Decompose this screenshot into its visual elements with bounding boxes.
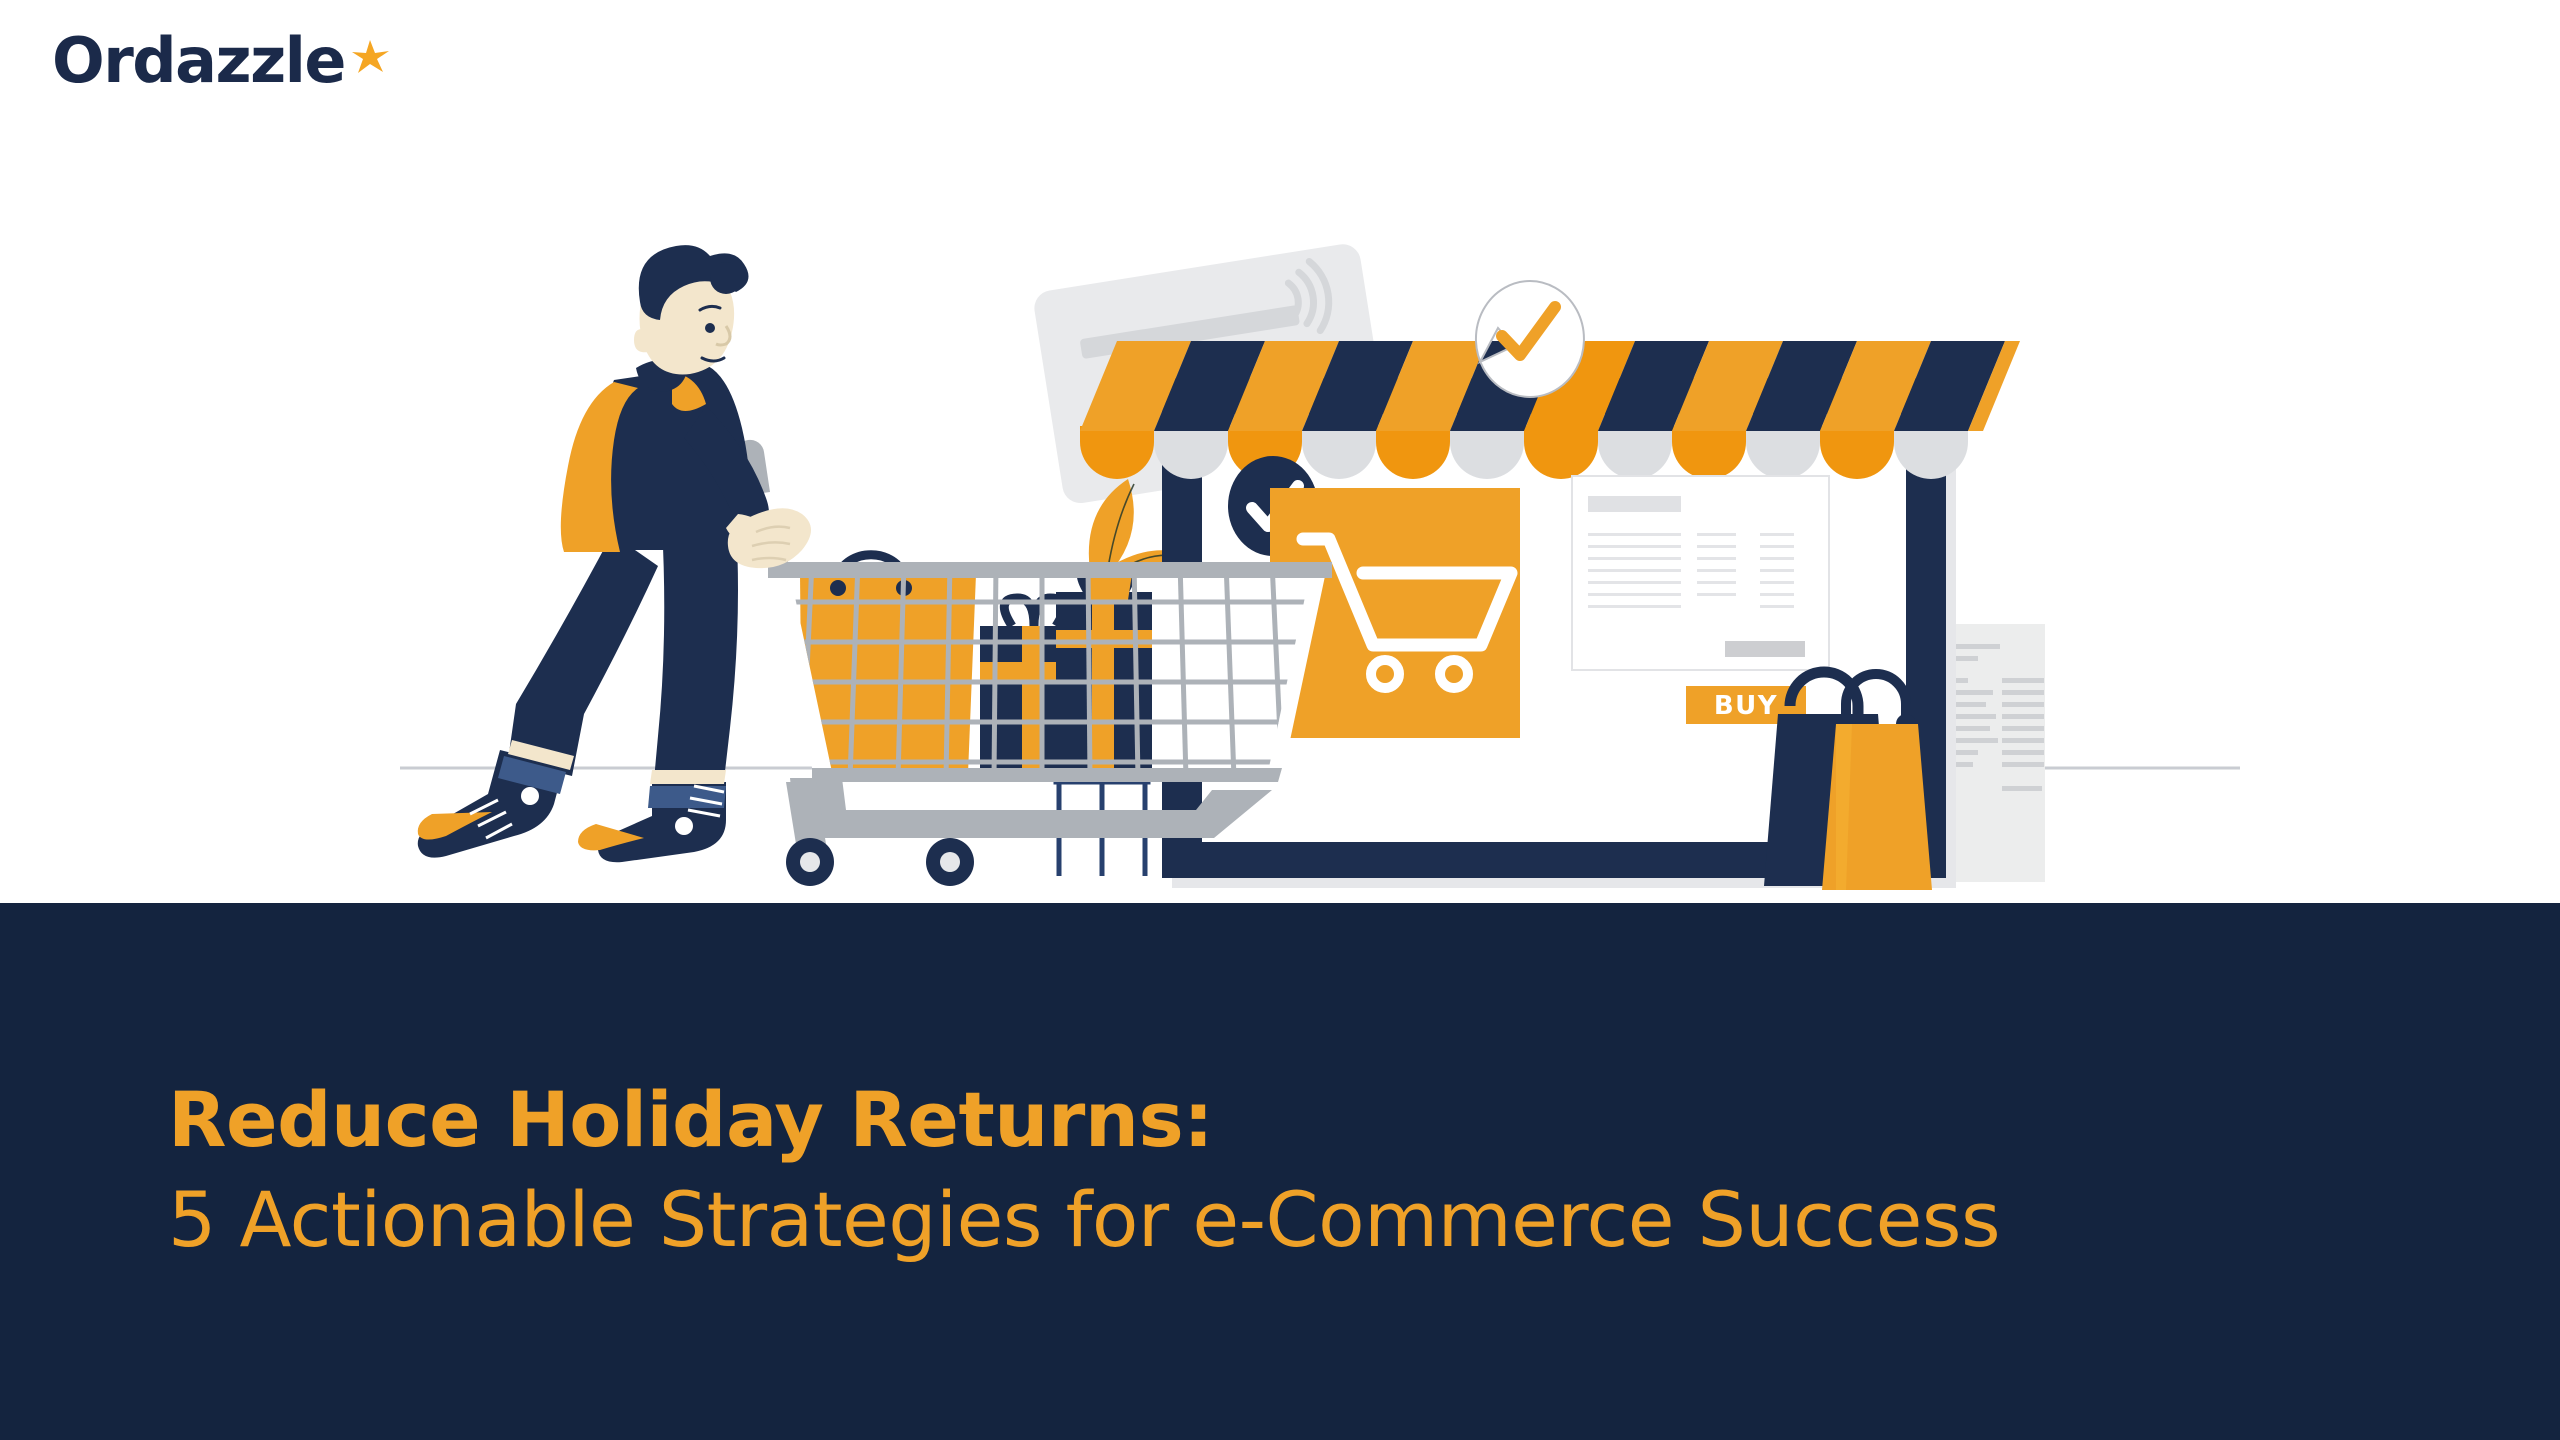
poster-canvas: Ordazzle <box>0 0 2560 1440</box>
buy-button-label: BUY <box>1714 691 1778 721</box>
hero-illustration: BUY <box>0 96 2560 906</box>
brand-logo[interactable]: Ordazzle <box>52 30 393 92</box>
brand-name: Ordazzle <box>52 30 345 92</box>
person-pushing-cart-icon <box>418 245 811 862</box>
headline-band: Reduce Holiday Returns: 5 Actionable Str… <box>0 903 2560 1440</box>
star-icon <box>347 36 393 82</box>
speech-bubble-check-icon <box>1476 281 1584 397</box>
headline-line-2: 5 Actionable Strategies for e-Commerce S… <box>168 1175 2368 1265</box>
invoice-panel <box>1572 476 1829 670</box>
headline-block: Reduce Holiday Returns: 5 Actionable Str… <box>168 1075 2368 1264</box>
headline-line-1: Reduce Holiday Returns: <box>168 1075 2368 1165</box>
